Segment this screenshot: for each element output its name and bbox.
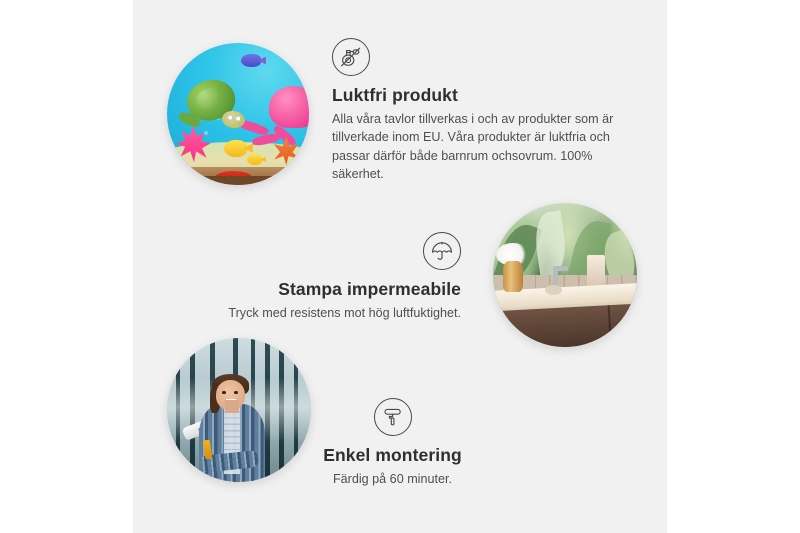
feature-block-waterproof: Stampa impermeabile Tryck med resistens … — [180, 232, 461, 322]
product-photo-aquarium[interactable] — [167, 43, 309, 185]
feature-block-mounting: Enkel montering Färdig på 60 minuter. — [282, 398, 503, 488]
no-fragrance-icon — [332, 38, 370, 76]
feature-title: Luktfri produkt — [332, 85, 622, 106]
wooden-vanity-cabinet — [500, 303, 637, 347]
feature-block-odourless: Luktfri produkt Alla våra tavlor tillver… — [332, 38, 622, 184]
icon-row — [282, 398, 503, 436]
bathroom-illustration — [493, 203, 637, 347]
blue-fish-illustration — [241, 54, 261, 67]
gold-vase — [503, 261, 523, 293]
octopus-illustration — [269, 86, 309, 129]
feature-description: Tryck med resistens mot hög luftfuktighe… — [180, 304, 461, 322]
woman-eye — [234, 391, 238, 394]
feature-description: Alla våra tavlor tillverkas i och av pro… — [332, 110, 622, 184]
feature-description: Färdig på 60 minuter. — [282, 470, 503, 488]
umbrella-icon — [423, 232, 461, 270]
seabed-floor-shadow — [167, 176, 309, 185]
door-handle — [625, 335, 632, 347]
icon-row — [180, 232, 461, 270]
woman-neck — [225, 400, 239, 413]
feature-title: Stampa impermeabile — [180, 279, 461, 300]
icon-row — [332, 38, 622, 76]
product-photo-bathroom[interactable] — [493, 203, 637, 347]
yellow-fish-illustration — [224, 140, 247, 157]
screenshot-root: Luktfri produkt Alla våra tavlor tillver… — [0, 0, 800, 533]
door-handle — [609, 336, 614, 347]
aquarium-illustration — [167, 43, 309, 185]
yellow-fish-illustration — [247, 154, 263, 165]
feature-title: Enkel montering — [282, 445, 503, 466]
paint-roller-icon — [374, 398, 412, 436]
